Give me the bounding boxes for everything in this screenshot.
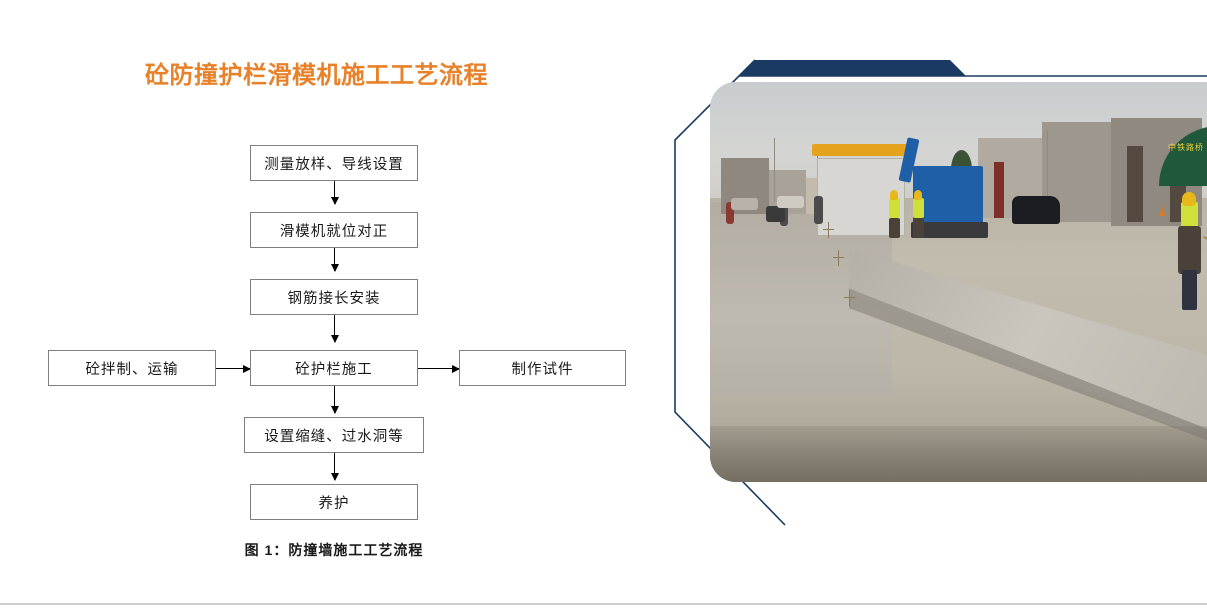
flow-node-label: 钢筋接长安装 — [288, 287, 381, 308]
flow-node-label: 测量放样、导线设置 — [264, 153, 404, 174]
flow-node-label: 滑模机就位对正 — [280, 220, 389, 241]
photo-survey-stake — [838, 250, 839, 266]
flow-edge-n4-n6 — [418, 368, 459, 369]
photo-foreground-worker-helmet — [1182, 192, 1196, 206]
navy-tab-shape — [739, 60, 966, 76]
photo-paver-canopy — [812, 144, 908, 156]
photo-worker-helmet — [914, 190, 923, 200]
flow-node-slipform-positioning[interactable]: 滑模机就位对正 — [250, 212, 418, 248]
flow-node-make-test-specimen[interactable]: 制作试件 — [459, 350, 626, 386]
flow-node-barrier-construction[interactable]: 砼护栏施工 — [250, 350, 418, 386]
photo-worker-helmet — [890, 190, 899, 200]
photo-foreground-worker-legs — [1182, 270, 1197, 310]
flow-node-concrete-mixing-transport[interactable]: 砼拌制、运输 — [48, 350, 216, 386]
photo-doorway — [1127, 146, 1143, 222]
photo-pedestrian — [814, 196, 823, 224]
flow-node-label: 砼拌制、运输 — [86, 358, 179, 379]
photo-panel: 中铁路桥 — [660, 40, 1207, 540]
photo-worker-legs — [913, 218, 924, 238]
photo-utility-pole — [774, 138, 775, 202]
construction-site-photo: 中铁路桥 — [710, 82, 1207, 482]
photo-survey-stake — [849, 290, 850, 306]
footer-divider — [0, 603, 1207, 605]
photo-door — [994, 162, 1005, 218]
flow-edge-n2-n3 — [334, 248, 335, 271]
photo-parked-car — [777, 196, 804, 208]
flow-node-label: 养护 — [319, 492, 350, 513]
flow-edge-n4-n7 — [334, 386, 335, 413]
photo-road-sign-text: 中铁路桥 — [1168, 142, 1204, 153]
flow-node-curing[interactable]: 养护 — [250, 484, 418, 520]
photo-worker-vest — [913, 198, 924, 218]
flow-node-label: 设置缩缝、过水洞等 — [264, 425, 404, 446]
flow-node-label: 砼护栏施工 — [295, 358, 373, 379]
photo-parked-car — [731, 198, 758, 210]
flow-edge-n1-n2 — [334, 181, 335, 204]
flow-edge-n7-n8 — [334, 453, 335, 480]
flow-node-survey-setout[interactable]: 测量放样、导线设置 — [250, 145, 418, 181]
photo-car — [1012, 196, 1060, 224]
figure-caption: 图 1：防撞墙施工工艺流程 — [0, 540, 668, 560]
photo-worker-vest — [889, 198, 900, 218]
flow-edge-n3-n4 — [334, 315, 335, 342]
flow-node-joints-culverts[interactable]: 设置缩缝、过水洞等 — [244, 417, 424, 453]
process-flowchart: 测量放样、导线设置 滑模机就位对正 钢筋接长安装 砼拌制、运输 砼护栏施工 制作… — [0, 0, 660, 600]
photo-survey-stake — [828, 222, 829, 238]
photo-foreground-shadow — [710, 426, 1207, 482]
flow-edge-n5-n4 — [216, 368, 250, 369]
flow-node-rebar-extension[interactable]: 钢筋接长安装 — [250, 279, 418, 315]
flow-node-label: 制作试件 — [512, 358, 574, 379]
photo-motorbike — [766, 206, 785, 222]
photo-foreground-worker-coat — [1178, 226, 1200, 274]
photo-worker-legs — [889, 218, 900, 238]
